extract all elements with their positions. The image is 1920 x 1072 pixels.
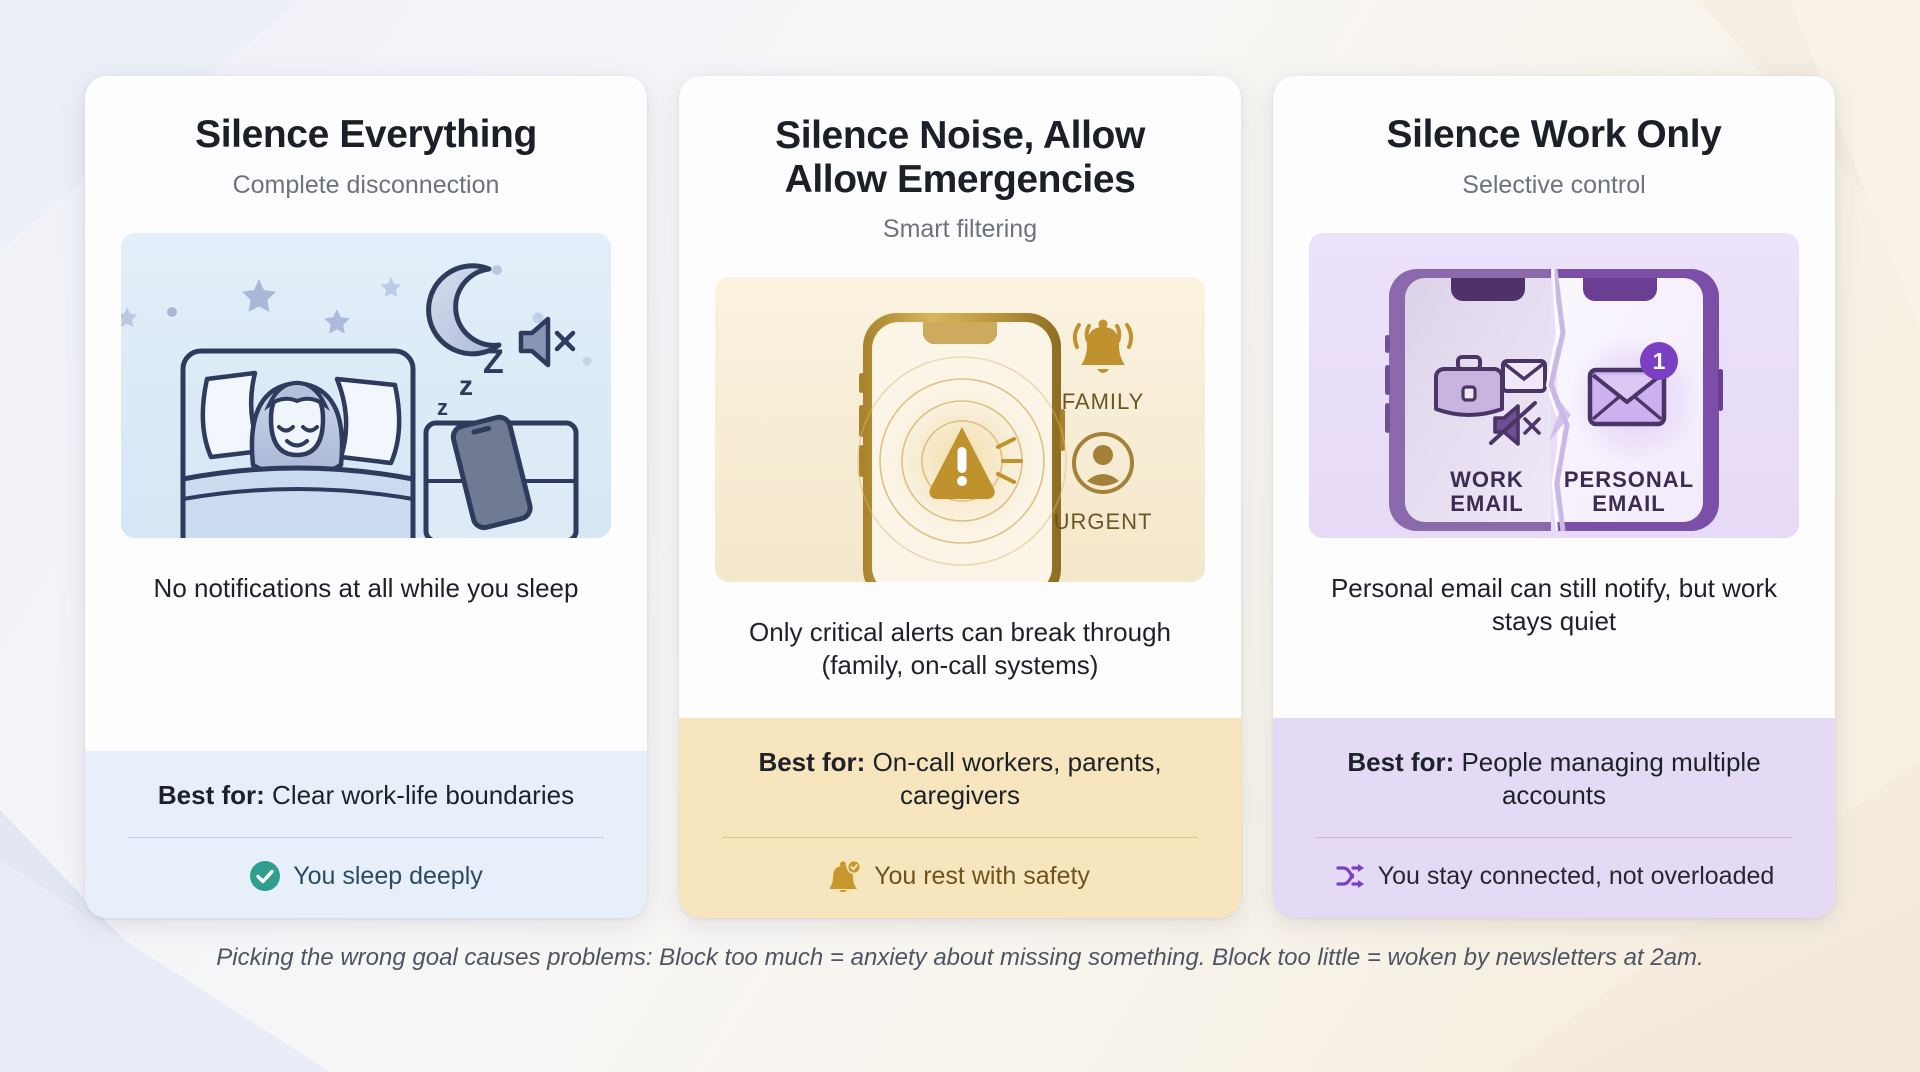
svg-text:z: z [459, 370, 473, 401]
card-title-2: Silence Noise, Allow Allow Emergencies [775, 114, 1145, 201]
check-circle-icon [249, 860, 281, 892]
svg-text:EMAIL: EMAIL [1450, 491, 1523, 516]
card-subtitle-2: Smart filtering [883, 215, 1037, 244]
best-for-label-3: Best for: [1347, 747, 1454, 777]
svg-text:Z: Z [483, 343, 504, 381]
card-footer-3: Best for: People managing multiple accou… [1273, 718, 1835, 919]
divider-1 [128, 837, 604, 838]
card-title-2-line1: Silence Noise, Allow [775, 114, 1145, 158]
card-silence-everything[interactable]: Silence Everything Complete disconnectio… [85, 76, 647, 918]
card-body-1: No notifications at all while you sleep [146, 572, 587, 605]
card-body-2: Only critical alerts can break through (… [713, 616, 1207, 682]
svg-text:URGENT: URGENT [1054, 509, 1153, 534]
bell-check-icon [830, 860, 862, 892]
card-header-1: Silence Everything Complete disconnectio… [85, 76, 647, 751]
divider-3 [1316, 837, 1792, 838]
card-footer-2: Best for: On-call workers, parents, care… [679, 718, 1241, 919]
phone-critical-alert-illustration: FAMILY URGENT [715, 277, 1205, 582]
comparison-card-layout: Silence Everything Complete disconnectio… [0, 0, 1920, 1072]
divider-2 [722, 837, 1198, 838]
svg-text:1: 1 [1653, 348, 1666, 374]
card-subtitle-1: Complete disconnection [233, 171, 500, 200]
best-for-value-2: On-call workers, parents, caregivers [873, 747, 1162, 810]
best-for-label-1: Best for: [158, 780, 265, 810]
card-subtitle-3: Selective control [1462, 171, 1645, 200]
shuffle-icon [1334, 860, 1366, 892]
best-for-value-3: People managing multiple accounts [1461, 747, 1760, 810]
best-for-label-2: Best for: [758, 747, 865, 777]
card-body-3: Personal email can still notify, but wor… [1307, 572, 1801, 638]
svg-text:WORK: WORK [1450, 467, 1524, 492]
card-row: Silence Everything Complete disconnectio… [85, 76, 1835, 918]
svg-text:FAMILY: FAMILY [1062, 389, 1145, 414]
svg-text:PERSONAL: PERSONAL [1564, 467, 1694, 492]
card-title-1: Silence Everything [195, 114, 537, 157]
footnote-caption: Picking the wrong goal causes problems: … [216, 944, 1703, 972]
outcome-row-3: You stay connected, not overloaded [1334, 860, 1775, 892]
svg-text:z: z [437, 395, 448, 420]
outcome-text-3: You stay connected, not overloaded [1378, 862, 1775, 891]
card-title-3: Silence Work Only [1387, 114, 1722, 157]
best-for-2: Best for: On-call workers, parents, care… [713, 746, 1207, 812]
best-for-3: Best for: People managing multiple accou… [1307, 746, 1801, 812]
sleeping-person-illustration: z z Z [121, 233, 611, 538]
svg-text:EMAIL: EMAIL [1592, 491, 1665, 516]
card-silence-noise-allow-emergencies[interactable]: Silence Noise, Allow Allow Emergencies S… [679, 76, 1241, 918]
outcome-text-1: You sleep deeply [293, 862, 483, 891]
card-header-2: Silence Noise, Allow Allow Emergencies S… [679, 76, 1241, 718]
card-title-2-line2: Allow Emergencies [775, 158, 1145, 202]
best-for-value-1: Clear work-life boundaries [272, 780, 574, 810]
card-footer-1: Best for: Clear work-life boundaries You… [85, 751, 647, 919]
outcome-row-1: You sleep deeply [249, 860, 483, 892]
card-silence-work-only[interactable]: Silence Work Only Selective control [1273, 76, 1835, 918]
best-for-1: Best for: Clear work-life boundaries [158, 779, 574, 812]
outcome-text-2: You rest with safety [874, 862, 1090, 891]
card-header-3: Silence Work Only Selective control [1273, 76, 1835, 718]
outcome-row-2: You rest with safety [830, 860, 1090, 892]
split-phone-work-personal-illustration: WORK EMAIL [1309, 233, 1799, 538]
